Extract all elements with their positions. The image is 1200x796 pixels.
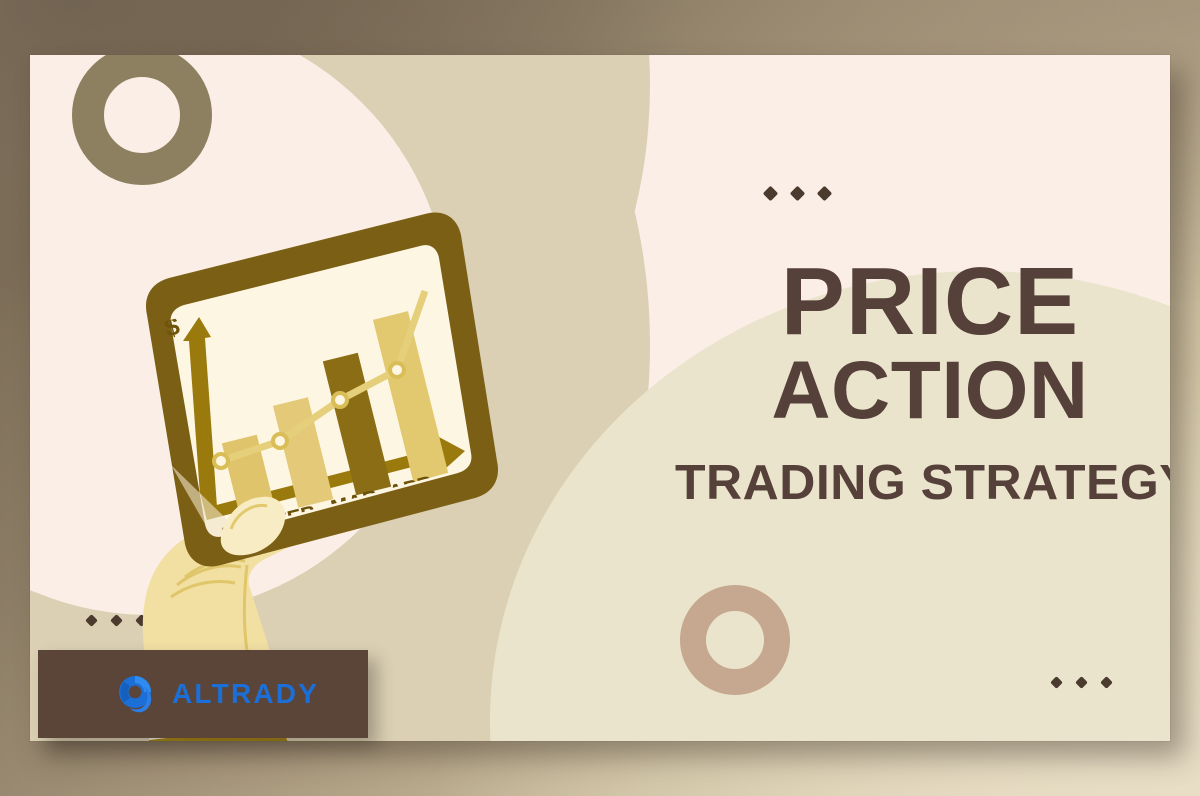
banner-root: $ [0,0,1200,796]
brand-name: ALTRADY [172,678,319,710]
dot-group-top [765,188,830,199]
banner-canvas: $ [30,55,1170,741]
headline-block: PRICE ACTION TRADING STRATEGY [680,255,1170,507]
brand-logo-bar: ALTRADY [38,650,368,738]
diamond-dot-icon [1075,676,1088,689]
headline-line-action: ACTION [680,351,1170,431]
diamond-dot-icon [790,186,806,202]
dot-group-bottom-right [1052,678,1111,687]
tablet-device: $ [146,213,498,567]
tan-ring-icon [680,585,790,695]
diamond-dot-icon [763,186,779,202]
headline-line-price: PRICE [680,255,1170,349]
diamond-dot-icon [817,186,833,202]
diamond-dot-icon [110,614,123,627]
diamond-dot-icon [1050,676,1063,689]
altrady-swirl-logo-icon [116,673,158,715]
headline-line-strategy: TRADING STRATEGY [675,459,1170,507]
diamond-dot-icon [85,614,98,627]
brand-logo[interactable]: ALTRADY [116,673,319,715]
diamond-dot-icon [1100,676,1113,689]
